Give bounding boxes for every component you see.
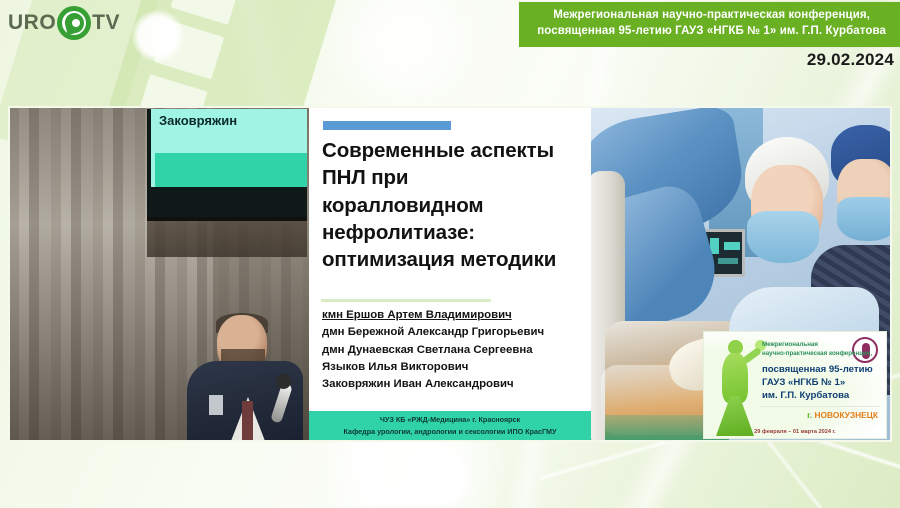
conference-title-line-2: посвященная 95-летию ГАУЗ «НГКБ № 1» им.… <box>537 24 886 40</box>
microphone-head <box>276 374 291 389</box>
screen-root: URO TV Межрегиональная научно-практическ… <box>0 0 900 508</box>
affiliation-line-1: ЧУЗ КБ «РЖД-Медицина» г. Красноярск <box>309 414 591 426</box>
slide-accent-bar <box>323 121 451 130</box>
slide-affiliation-footer: ЧУЗ КБ «РЖД-Медицина» г. Красноярск Кафе… <box>309 411 591 441</box>
projection-footer-line-1: ЧУЗ К <box>155 156 307 162</box>
conference-city: г. НОВОКУЗНЕЦК <box>807 410 878 420</box>
uro-tv-logo: URO TV <box>8 6 120 40</box>
slide-title-line: Современные аспекты <box>322 137 585 164</box>
slide-title-line: нефролитиазе: <box>322 219 585 246</box>
projection-screen-frame <box>147 221 307 257</box>
conference-dates: 29 февраля – 01 марта 2024 г. <box>704 429 886 435</box>
conference-title-banner: Межрегиональная научно-практическая конф… <box>519 2 900 47</box>
green-statue-figure-icon <box>710 338 764 434</box>
affiliation-line-2: Кафедра урологии, андрологии и сексологи… <box>309 426 591 438</box>
list-item: Языков Илья Викторович <box>322 359 587 376</box>
conference-logo-subtitle-line-1: Межрегиональная <box>762 341 880 350</box>
logo-prefix-text: URO <box>8 11 56 35</box>
conference-logo-subtitle-line-2: научно-практическая конференция, <box>762 350 880 359</box>
video-content-strip: Заковряжин ЧУЗ К Кафедра уроло <box>8 106 892 442</box>
conference-city-name: НОВОКУЗНЕЦК <box>814 410 878 420</box>
slide-title-line: оптимизация методики <box>322 246 585 273</box>
slide-divider <box>321 299 491 302</box>
slide-title-line: коралловидном <box>322 192 585 219</box>
conference-logo-title-line-2: ГАУЗ «НГКБ № 1» <box>762 376 880 389</box>
speaker-video-panel[interactable]: Заковряжин ЧУЗ К Кафедра уроло <box>9 107 309 441</box>
projection-slide-title: Заковряжин <box>159 113 237 128</box>
conference-logo-title-line-1: посвященная 95-летию <box>762 363 880 376</box>
conference-logo-title: посвященная 95-летию ГАУЗ «НГКБ № 1» им.… <box>762 363 880 402</box>
list-item: дмн Бережной Александр Григорьевич <box>322 324 587 341</box>
operating-room-video-panel[interactable]: Межрегиональная научно-практическая конф… <box>591 107 891 441</box>
speaker-badge <box>209 395 223 415</box>
logo-suffix-text: TV <box>92 11 120 35</box>
slide-title-line: ПНЛ при <box>322 164 585 191</box>
author-list: кмн Ершов Артем Владимирович дмн Бережно… <box>322 307 587 394</box>
uro-tv-emblem-icon <box>57 6 91 40</box>
projection-screen: Заковряжин ЧУЗ К Кафедра уроло <box>147 109 307 221</box>
background-blob <box>132 10 184 62</box>
speaker-tie <box>242 401 253 441</box>
background-blob <box>400 452 478 504</box>
list-item: Заковряжин Иван Александрович <box>322 376 587 393</box>
presentation-slide[interactable]: Современные аспекты ПНЛ при коралловидно… <box>309 107 591 441</box>
list-item: дмн Дунаевская Светлана Сергеевна <box>322 342 587 359</box>
projection-footer-line-2: Кафедра уроло <box>155 165 307 171</box>
list-item: кмн Ершов Артем Владимирович <box>322 307 587 324</box>
surgical-mask <box>747 211 819 263</box>
conference-title-line-1: Межрегиональная научно-практическая конф… <box>537 8 886 24</box>
broadcast-date: 29.02.2024 <box>807 50 894 70</box>
conference-logo-subtitle: Межрегиональная научно-практическая конф… <box>762 341 880 359</box>
slide-title: Современные аспекты ПНЛ при коралловидно… <box>322 137 585 273</box>
conference-logo-title-line-3: им. Г.П. Курбатова <box>762 389 880 402</box>
conference-logo-card: Межрегиональная научно-практическая конф… <box>703 331 887 439</box>
